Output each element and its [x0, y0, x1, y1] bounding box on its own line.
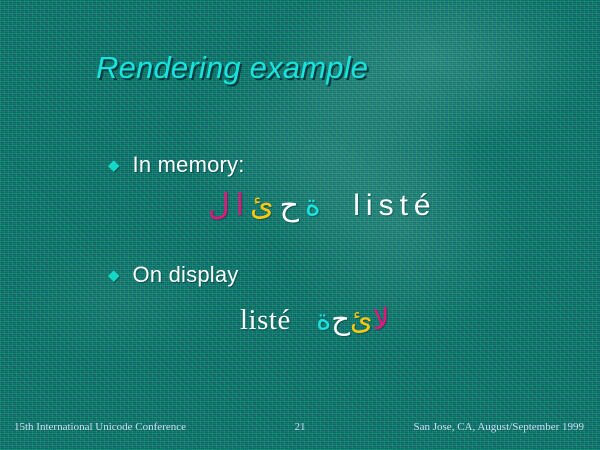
memory-arabic-run: لائحة: [205, 188, 333, 223]
arabic-ligature-lam-alef: لا: [373, 302, 390, 336]
arabic-glyph-teh-marbuta: ة: [305, 188, 321, 223]
bullet-label-in-memory: In memory:: [133, 152, 245, 178]
display-arabic-run: ةحئلا: [307, 302, 389, 336]
bullet-item-on-display: ◆ On display: [108, 262, 239, 288]
arabic-glyph-lam: ل: [208, 188, 230, 223]
memory-latin-word: listé: [353, 189, 436, 222]
bullet-label-on-display: On display: [133, 262, 239, 288]
display-order-sample: listé ةحئلا: [240, 302, 389, 337]
memory-order-sample: لائحة listé: [205, 188, 437, 223]
diamond-bullet-icon: ◆: [108, 158, 120, 173]
presentation-slide: Rendering example ◆ In memory: لائحة lis…: [0, 0, 600, 450]
footer-location-date: San Jose, CA, August/September 1999: [414, 421, 585, 433]
arabic-glyph-yeh-hamza-medial: ئ: [350, 302, 373, 336]
arabic-glyph-hah-medial: ح: [331, 302, 350, 336]
arabic-glyph-yeh-hamza: ئ: [250, 188, 273, 223]
diamond-bullet-icon: ◆: [108, 268, 120, 283]
arabic-glyph-teh-marbuta-final: ة: [316, 302, 331, 336]
slide-title: Rendering example: [96, 50, 368, 86]
bullet-item-in-memory: ◆ In memory:: [108, 152, 245, 178]
arabic-glyph-alef: ا: [236, 188, 244, 223]
arabic-glyph-hah: ح: [280, 188, 299, 223]
display-latin-word: listé: [240, 304, 291, 336]
slide-footer: 15th International Unicode Conference 21…: [0, 421, 600, 437]
